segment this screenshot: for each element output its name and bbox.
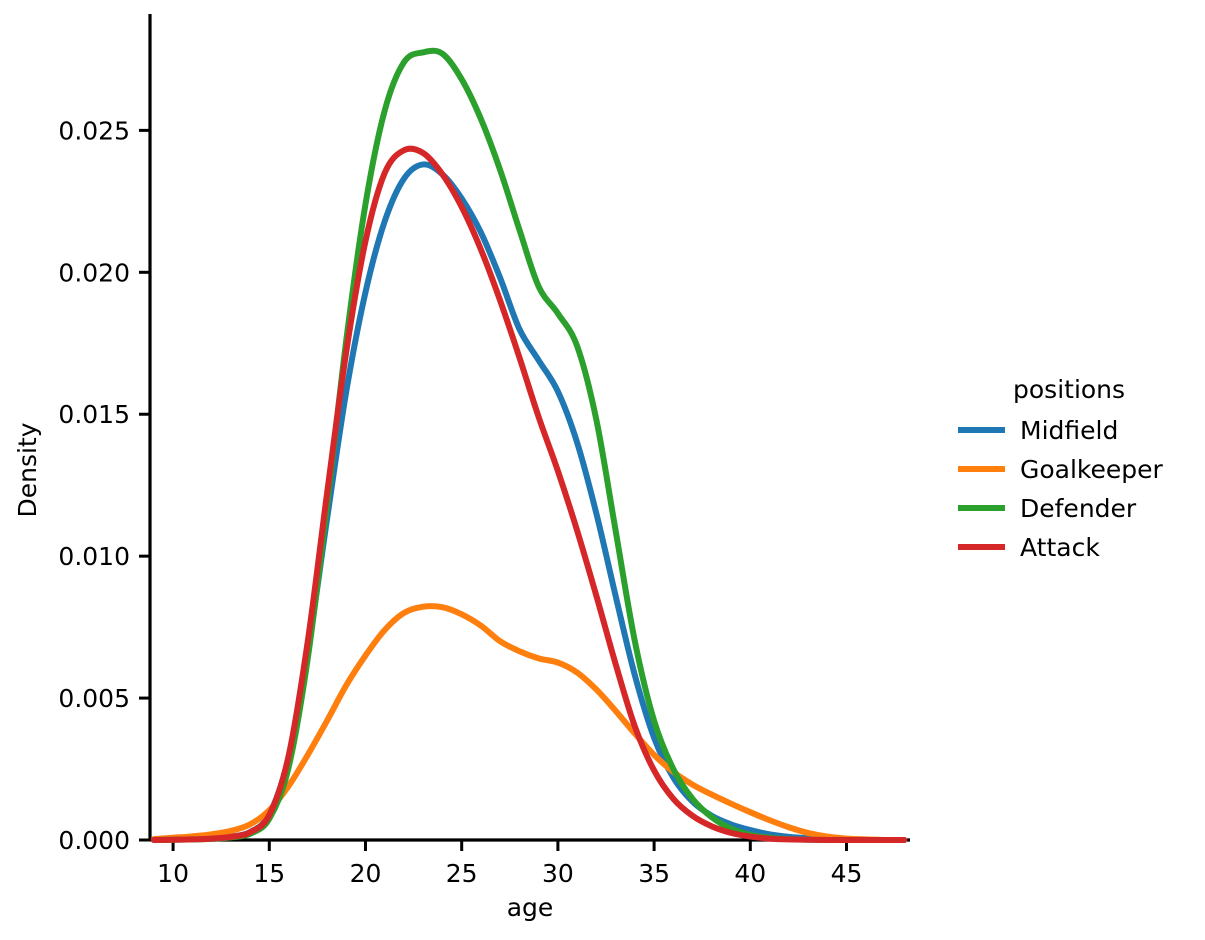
y-tick-label: 0.015	[58, 400, 130, 429]
kde-density-figure: 1015202530354045 0.0000.0050.0100.0150.0…	[0, 0, 1205, 940]
x-tick-label: 30	[542, 859, 574, 888]
legend-label-defender: Defender	[1020, 494, 1137, 523]
legend-label-goalkeeper: Goalkeeper	[1020, 455, 1164, 484]
x-tick-label: 40	[734, 859, 766, 888]
y-tick-label: 0.000	[58, 826, 130, 855]
x-tick-label: 10	[157, 859, 189, 888]
plot-canvas: 1015202530354045 0.0000.0050.0100.0150.0…	[0, 0, 1205, 940]
x-tick-label: 25	[446, 859, 478, 888]
y-tick-label: 0.010	[58, 542, 130, 571]
legend-label-midfield: Midfield	[1020, 416, 1118, 445]
legend-label-attack: Attack	[1020, 533, 1100, 562]
y-axis-label: Density	[13, 422, 42, 517]
x-tick-label: 20	[350, 859, 382, 888]
x-tick-label: 15	[253, 859, 285, 888]
y-tick-label: 0.025	[58, 116, 130, 145]
legend-title: positions	[1013, 375, 1125, 404]
x-tick-label: 45	[831, 859, 863, 888]
y-tick-label: 0.005	[58, 684, 130, 713]
x-tick-label: 35	[638, 859, 670, 888]
y-tick-label: 0.020	[58, 258, 130, 287]
x-axis-label: age	[507, 893, 554, 922]
